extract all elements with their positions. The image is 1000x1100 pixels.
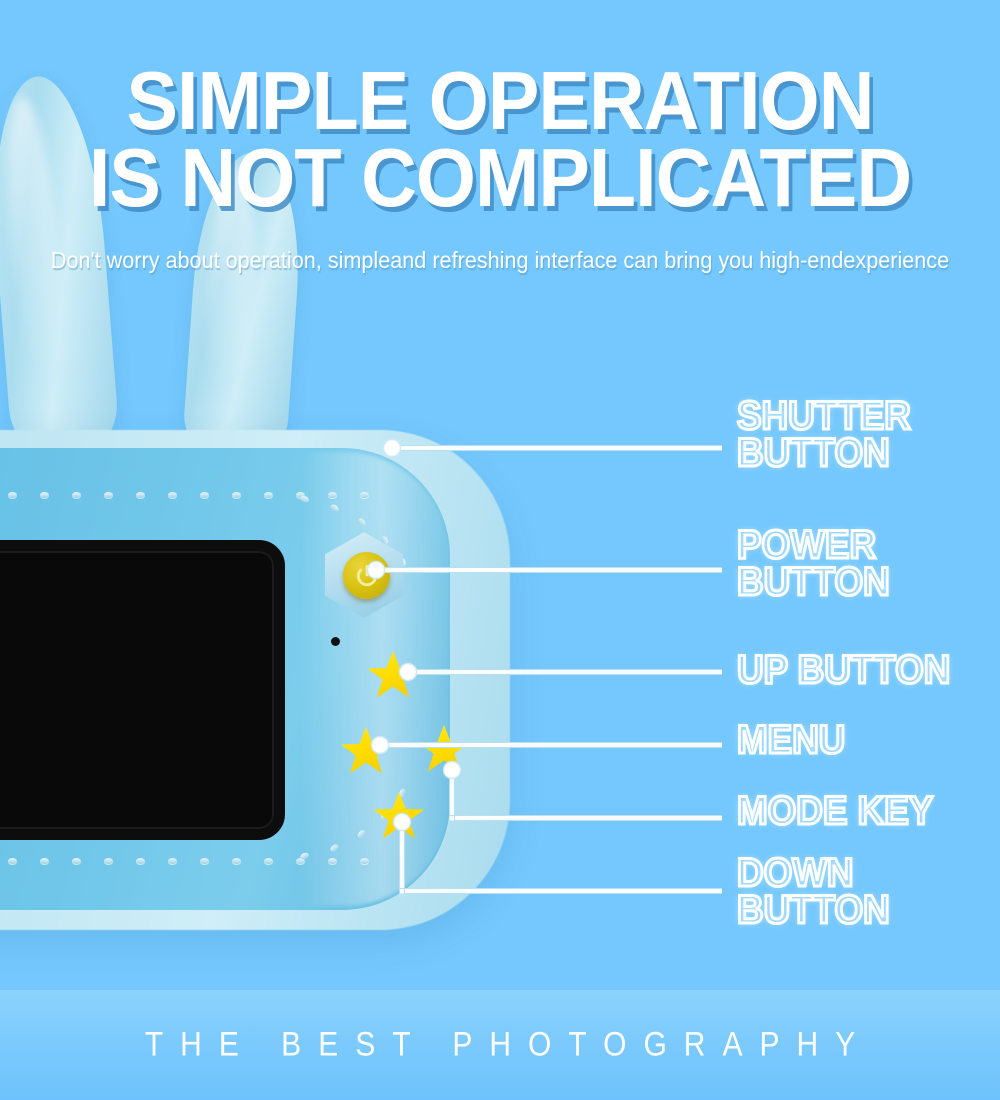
leader-dot-menu: [372, 737, 389, 754]
leader-dot-mode: [444, 762, 461, 779]
banner-text: THE BEST PHOTOGRAPHY: [128, 1025, 872, 1064]
callout-label-up-button: UP BUTTON: [737, 652, 950, 689]
callout-label-shutter-button: SHUTTER BUTTON: [737, 398, 911, 472]
leader-line-mode: [452, 770, 722, 818]
callout-label-mode-key: MODE KEY: [737, 793, 933, 830]
leader-line-down: [402, 822, 722, 891]
leader-dot-down: [394, 814, 411, 831]
leader-dot-up: [400, 664, 417, 681]
bottom-banner: THE BEST PHOTOGRAPHY: [0, 990, 1000, 1100]
subtitle: Don't worry about operation, simpleand r…: [30, 243, 970, 277]
headline-line-1: SIMPLE OPERATION: [35, 62, 965, 139]
leader-dot-power: [368, 562, 385, 579]
page-title: SIMPLE OPERATION IS NOT COMPLICATED: [35, 62, 965, 216]
headline-line-2: IS NOT COMPLICATED: [35, 139, 965, 216]
callout-label-power-button: POWER BUTTON: [737, 527, 890, 601]
callout-label-down-button: DOWN BUTTON: [737, 855, 890, 929]
leader-dot-shutter: [384, 440, 401, 457]
callout-label-menu: MENU: [737, 722, 845, 759]
product-infographic: SIMPLE OPERATION IS NOT COMPLICATED Don'…: [0, 0, 1000, 1100]
